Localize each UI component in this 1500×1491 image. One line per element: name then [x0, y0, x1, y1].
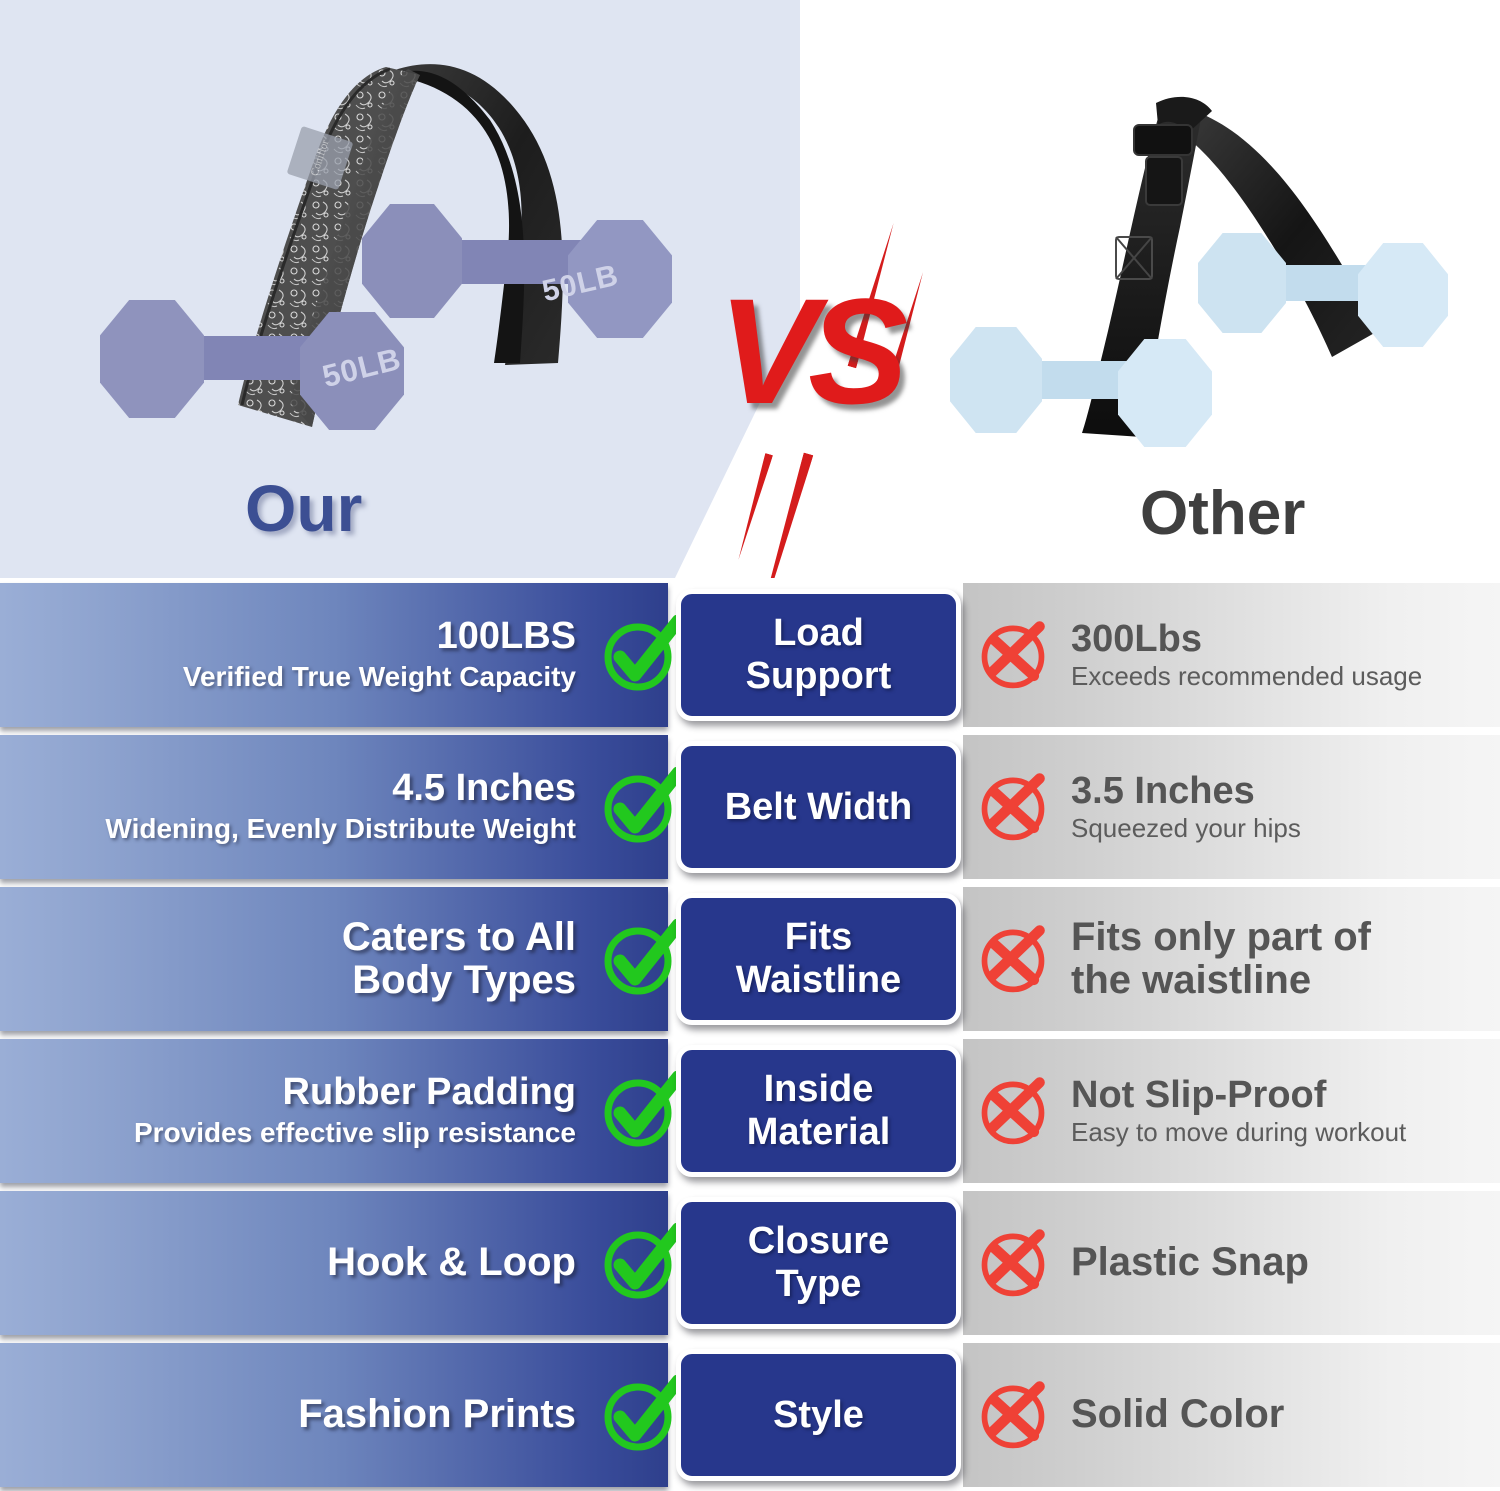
comparison-table: 100LBS Verified True Weight Capacity Loa… [0, 578, 1500, 1491]
our-product-image: Coniflor 50LB 50LB [90, 45, 690, 465]
other-verdict-icon [975, 769, 1051, 845]
dumbbell-light-front [950, 311, 1210, 451]
other-verdict-icon [975, 617, 1051, 693]
comparison-row: Caters to AllBody Types FitsWaistline Fi… [0, 887, 1500, 1031]
circle-check-icon [600, 767, 680, 847]
our-feature-main: Rubber Padding [134, 1072, 576, 1113]
versus-logo: VS [718, 228, 958, 528]
our-feature-text: Fashion Prints [298, 1393, 576, 1436]
dumbbell-back-right [362, 190, 672, 340]
comparison-row: 100LBS Verified True Weight Capacity Loa… [0, 583, 1500, 727]
our-column-label: Our [245, 470, 362, 546]
comparison-row: 4.5 Inches Widening, Evenly Distribute W… [0, 735, 1500, 879]
vs-text: VS [718, 276, 898, 426]
feature-name-badge: InsideMaterial [676, 1045, 961, 1177]
circle-check-icon [600, 1375, 680, 1455]
circle-cross-icon [975, 921, 1051, 997]
our-feature-text: Hook & Loop [327, 1241, 576, 1284]
our-feature-sub: Verified True Weight Capacity [183, 661, 576, 693]
feature-name-text: LoadSupport [746, 612, 892, 697]
other-feature-main: Not Slip-Proof [1071, 1075, 1406, 1116]
our-verdict-icon [600, 919, 680, 999]
other-feature-text: Solid Color [1071, 1393, 1284, 1436]
other-feature-main: Solid Color [1071, 1393, 1284, 1436]
feature-name-text: InsideMaterial [747, 1068, 891, 1153]
feature-name-badge: Style [676, 1349, 961, 1481]
other-feature-main: Fits only part ofthe waistline [1071, 916, 1371, 1002]
feature-name-badge: FitsWaistline [676, 893, 961, 1025]
circle-cross-icon [975, 1377, 1051, 1453]
circle-check-icon [600, 1223, 680, 1303]
feature-name-badge: Belt Width [676, 741, 961, 873]
our-feature-main: 4.5 Inches [105, 768, 576, 809]
feature-name-text: Belt Width [725, 786, 913, 829]
our-feature-text: 4.5 Inches Widening, Evenly Distribute W… [105, 768, 576, 845]
our-feature-bar: Fashion Prints [0, 1343, 668, 1487]
circle-cross-icon [975, 1225, 1051, 1301]
our-verdict-icon [600, 1375, 680, 1455]
other-verdict-icon [975, 1073, 1051, 1149]
our-feature-sub: Widening, Evenly Distribute Weight [105, 813, 576, 845]
other-feature-sub: Easy to move during workout [1071, 1118, 1406, 1148]
feature-name-text: FitsWaistline [736, 916, 901, 1001]
other-feature-text: Fits only part ofthe waistline [1071, 916, 1371, 1002]
dumbbell-light-back [1198, 219, 1448, 355]
our-verdict-icon [600, 1071, 680, 1151]
our-feature-text: Rubber Padding Provides effective slip r… [134, 1072, 576, 1149]
other-verdict-icon [975, 921, 1051, 997]
our-verdict-icon [600, 767, 680, 847]
other-feature-text: 3.5 Inches Squeezed your hips [1071, 771, 1301, 844]
feature-name-text: ClosureType [748, 1220, 889, 1305]
feature-name-text: Style [773, 1394, 864, 1437]
other-feature-sub: Squeezed your hips [1071, 814, 1301, 844]
our-feature-bar: Rubber Padding Provides effective slip r… [0, 1039, 668, 1183]
our-feature-text: Caters to AllBody Types [342, 916, 576, 1002]
circle-cross-icon [975, 769, 1051, 845]
hero-comparison-banner: Coniflor 50LB 50LB [0, 0, 1500, 578]
our-feature-text: 100LBS Verified True Weight Capacity [183, 616, 576, 693]
circle-check-icon [600, 615, 680, 695]
our-feature-bar: 4.5 Inches Widening, Evenly Distribute W… [0, 735, 668, 879]
brand-name: Coniflor [309, 138, 332, 177]
other-feature-main: Plastic Snap [1071, 1241, 1309, 1284]
comparison-row: Fashion Prints Style Solid Color [0, 1343, 1500, 1487]
lightning-bolt-icon-3 [735, 453, 773, 561]
other-feature-text: 300Lbs Exceeds recommended usage [1071, 619, 1422, 692]
our-feature-main: Fashion Prints [298, 1393, 576, 1436]
feature-name-badge: LoadSupport [676, 589, 961, 721]
our-feature-main: 100LBS [183, 616, 576, 657]
other-feature-main: 300Lbs [1071, 619, 1422, 660]
our-feature-bar: Hook & Loop [0, 1191, 668, 1335]
our-feature-main: Hook & Loop [327, 1241, 576, 1284]
circle-check-icon [600, 919, 680, 999]
circle-cross-icon [975, 617, 1051, 693]
other-feature-sub: Exceeds recommended usage [1071, 662, 1422, 692]
other-verdict-icon [975, 1377, 1051, 1453]
other-feature-main: 3.5 Inches [1071, 771, 1301, 812]
our-feature-bar: Caters to AllBody Types [0, 887, 668, 1031]
circle-check-icon [600, 1071, 680, 1151]
our-feature-bar: 100LBS Verified True Weight Capacity [0, 583, 668, 727]
comparison-row: Hook & Loop ClosureType Plastic Snap [0, 1191, 1500, 1335]
comparison-row: Rubber Padding Provides effective slip r… [0, 1039, 1500, 1183]
other-feature-text: Not Slip-Proof Easy to move during worko… [1071, 1075, 1406, 1148]
our-feature-main: Caters to AllBody Types [342, 916, 576, 1002]
other-verdict-icon [975, 1225, 1051, 1301]
our-feature-sub: Provides effective slip resistance [134, 1117, 576, 1149]
other-product-image [950, 85, 1470, 475]
other-column-label: Other [1140, 478, 1305, 549]
circle-cross-icon [975, 1073, 1051, 1149]
our-verdict-icon [600, 1223, 680, 1303]
our-verdict-icon [600, 615, 680, 695]
feature-name-badge: ClosureType [676, 1197, 961, 1329]
other-feature-text: Plastic Snap [1071, 1241, 1309, 1284]
